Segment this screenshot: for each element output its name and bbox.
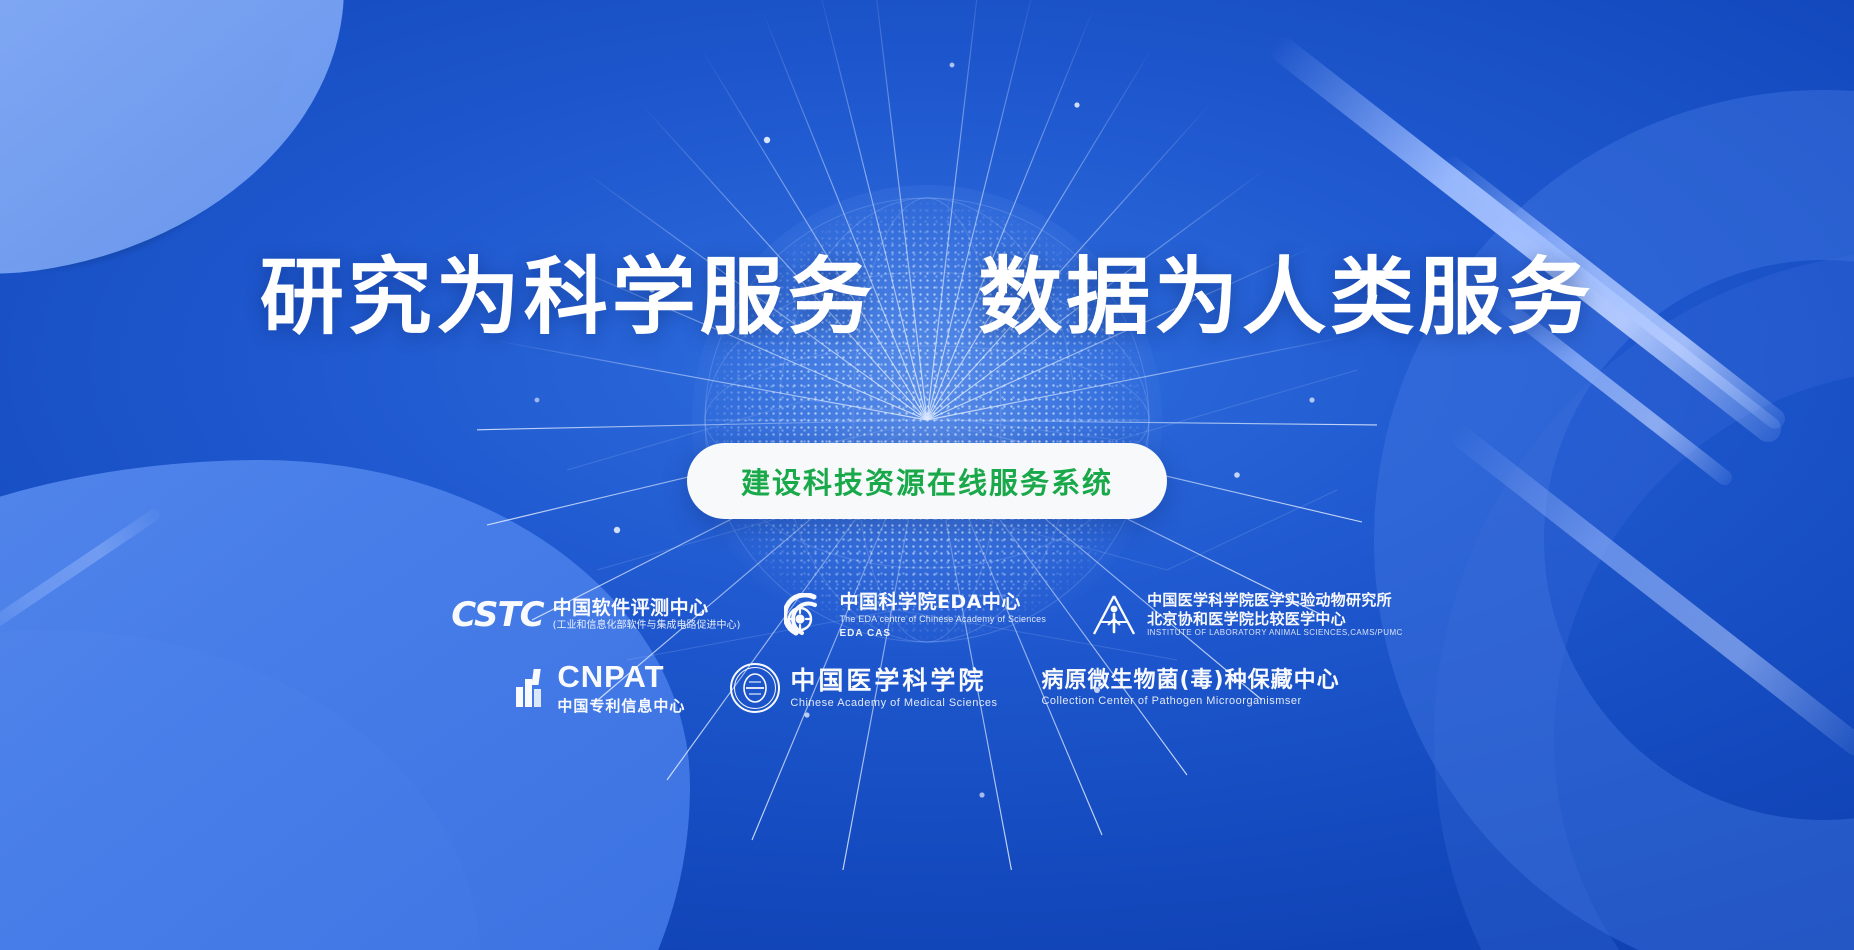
ilas-emblem-icon (1090, 592, 1138, 638)
partner-logos: CSTC 中国软件评测中心 (工业和信息化部软件与集成电路促进中心) (451, 591, 1402, 716)
cnpat-text: CNPAT 中国专利信息中心 (557, 661, 685, 716)
eda-cas-badge: EDA CAS (839, 628, 1046, 639)
ccpm-name-en: Collection Center of Pathogen Microorgan… (1041, 694, 1339, 708)
cstc-name-cn: 中国软件评测中心 (553, 597, 741, 620)
ccpm-name-cn: 病原微生物菌(毒)种保藏中心 (1041, 668, 1339, 694)
eda-cas-emblem-icon (784, 593, 830, 637)
partner-logo-cams[interactable]: 中国医学科学院 Chinese Academy of Medical Scien… (729, 662, 997, 714)
cams-name-cn: 中国医学科学院 (790, 667, 997, 696)
banner-content: 研究为科学服务 数据为人类服务 建设科技资源在线服务系统 CSTC 中国软件评测… (0, 0, 1854, 950)
headline-right: 数据为人类服务 (978, 248, 1594, 346)
cstc-wordmark-icon: CSTC (451, 595, 543, 635)
cstc-note-cn: (工业和信息化部软件与集成电路促进中心) (553, 620, 741, 633)
partner-logo-ccpm[interactable]: 病原微生物菌(毒)种保藏中心 Collection Center of Path… (1041, 668, 1339, 709)
cams-text: 中国医学科学院 Chinese Academy of Medical Scien… (790, 667, 997, 710)
eda-cas-name-en: The EDA centre of Chinese Academy of Sci… (839, 614, 1046, 626)
partner-logo-row-2: CNPAT 中国专利信息中心 (514, 661, 1339, 716)
cnpat-bars-icon (514, 667, 548, 709)
ccpm-text: 病原微生物菌(毒)种保藏中心 Collection Center of Path… (1041, 668, 1339, 709)
partner-logo-ilas[interactable]: 中国医学科学院医学实验动物研究所 北京协和医学院比较医学中心 INSTITUTE… (1090, 591, 1403, 639)
subtitle-pill[interactable]: 建设科技资源在线服务系统 (687, 443, 1167, 519)
ilas-name-cn-line1: 中国医学科学院医学实验动物研究所 (1147, 591, 1403, 610)
page-title: 研究为科学服务 数据为人类服务 (260, 252, 1595, 343)
cnpat-wordmark: CNPAT (557, 661, 685, 692)
cnpat-name-cn: 中国专利信息中心 (557, 695, 685, 716)
ilas-text: 中国医学科学院医学实验动物研究所 北京协和医学院比较医学中心 INSTITUTE… (1147, 591, 1403, 639)
banner-stage: 研究为科学服务 数据为人类服务 建设科技资源在线服务系统 CSTC 中国软件评测… (0, 0, 1854, 950)
headline-left: 研究为科学服务 (260, 248, 876, 346)
ilas-name-cn-line2: 北京协和医学院比较医学中心 (1147, 610, 1403, 629)
partner-logo-cnpat[interactable]: CNPAT 中国专利信息中心 (514, 661, 685, 716)
eda-cas-text: 中国科学院EDA中心 The EDA centre of Chinese Aca… (839, 591, 1046, 638)
cstc-text: 中国软件评测中心 (工业和信息化部软件与集成电路促进中心) (553, 597, 741, 632)
partner-logo-cstc[interactable]: CSTC 中国软件评测中心 (工业和信息化部软件与集成电路促进中心) (451, 595, 740, 635)
ilas-name-en: INSTITUTE OF LABORATORY ANIMAL SCIENCES,… (1147, 628, 1403, 638)
partner-logo-eda-cas[interactable]: 中国科学院EDA中心 The EDA centre of Chinese Aca… (784, 591, 1046, 638)
cams-name-en: Chinese Academy of Medical Sciences (790, 696, 997, 710)
cams-seal-icon (729, 662, 781, 714)
eda-cas-name-cn: 中国科学院EDA中心 (839, 591, 1046, 614)
partner-logo-row-1: CSTC 中国软件评测中心 (工业和信息化部软件与集成电路促进中心) (451, 591, 1402, 639)
